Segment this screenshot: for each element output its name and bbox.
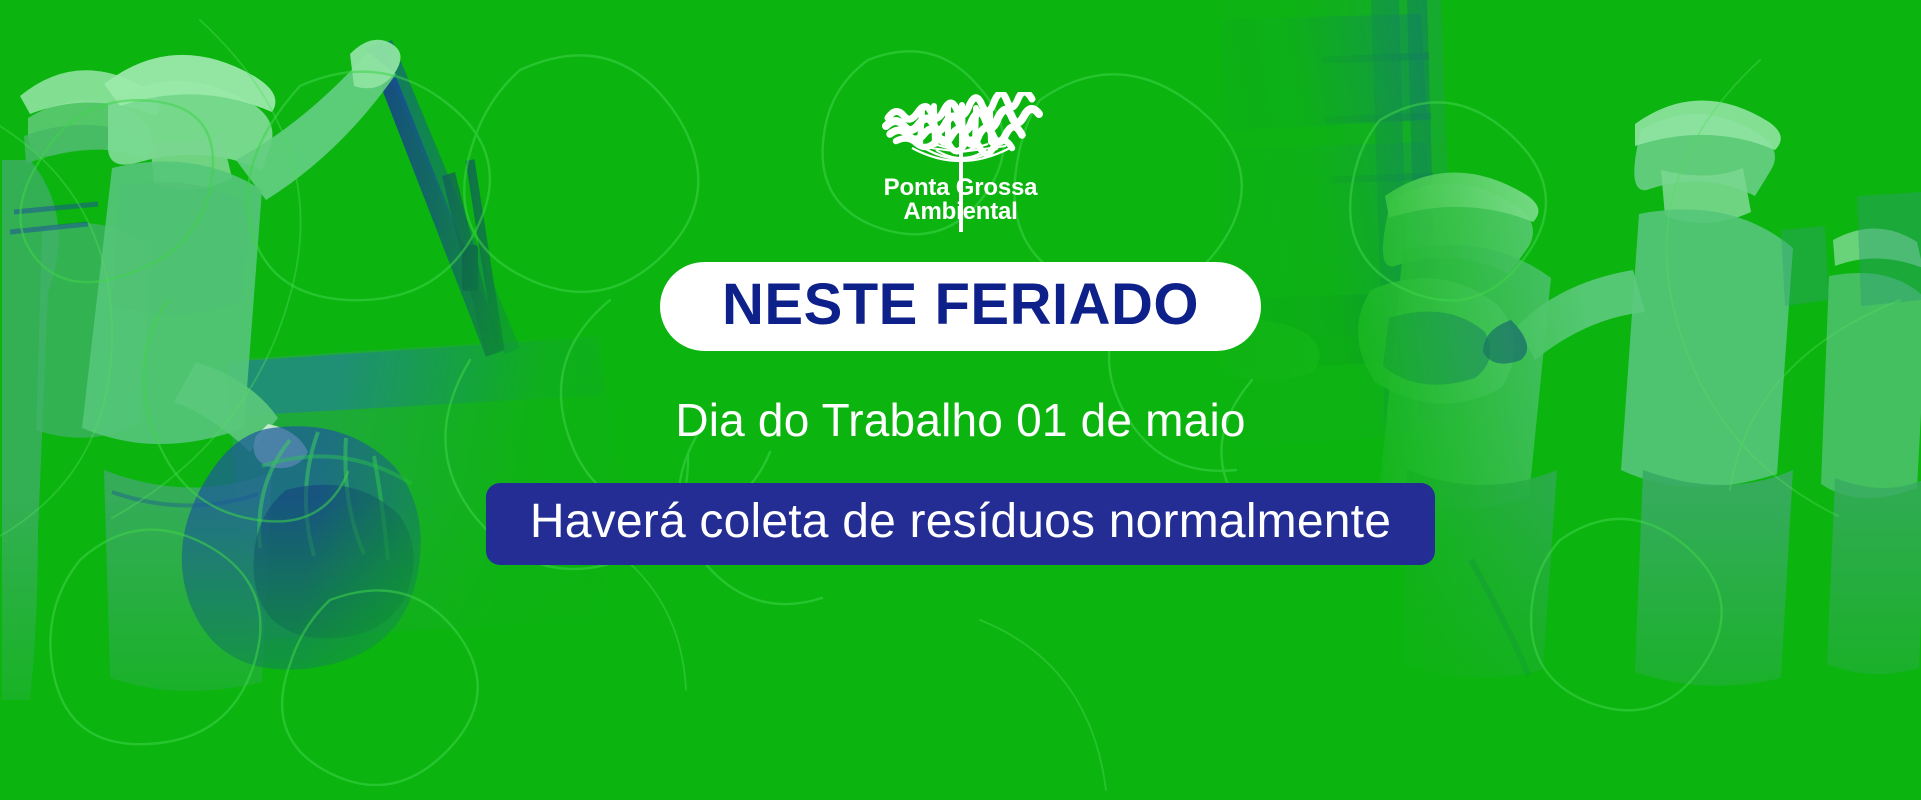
- logo-line-1: Ponta Grossa: [872, 176, 1050, 200]
- logo-line-2: Ambiental: [872, 200, 1050, 224]
- neste-feriado-badge: NESTE FERIADO: [660, 262, 1261, 351]
- holiday-notice-banner: Ponta Grossa Ambiental NESTE FERIADO Dia…: [0, 0, 1921, 800]
- banner-content: Ponta Grossa Ambiental NESTE FERIADO Dia…: [0, 0, 1921, 800]
- collection-message-bar: Haverá coleta de resíduos normalmente: [486, 483, 1435, 565]
- holiday-subtitle: Dia do Trabalho 01 de maio: [675, 397, 1245, 443]
- collection-message-text: Haverá coleta de resíduos normalmente: [530, 498, 1391, 546]
- ponta-grossa-ambiental-logo: Ponta Grossa Ambiental: [872, 92, 1050, 234]
- badge-label: NESTE FERIADO: [722, 276, 1199, 334]
